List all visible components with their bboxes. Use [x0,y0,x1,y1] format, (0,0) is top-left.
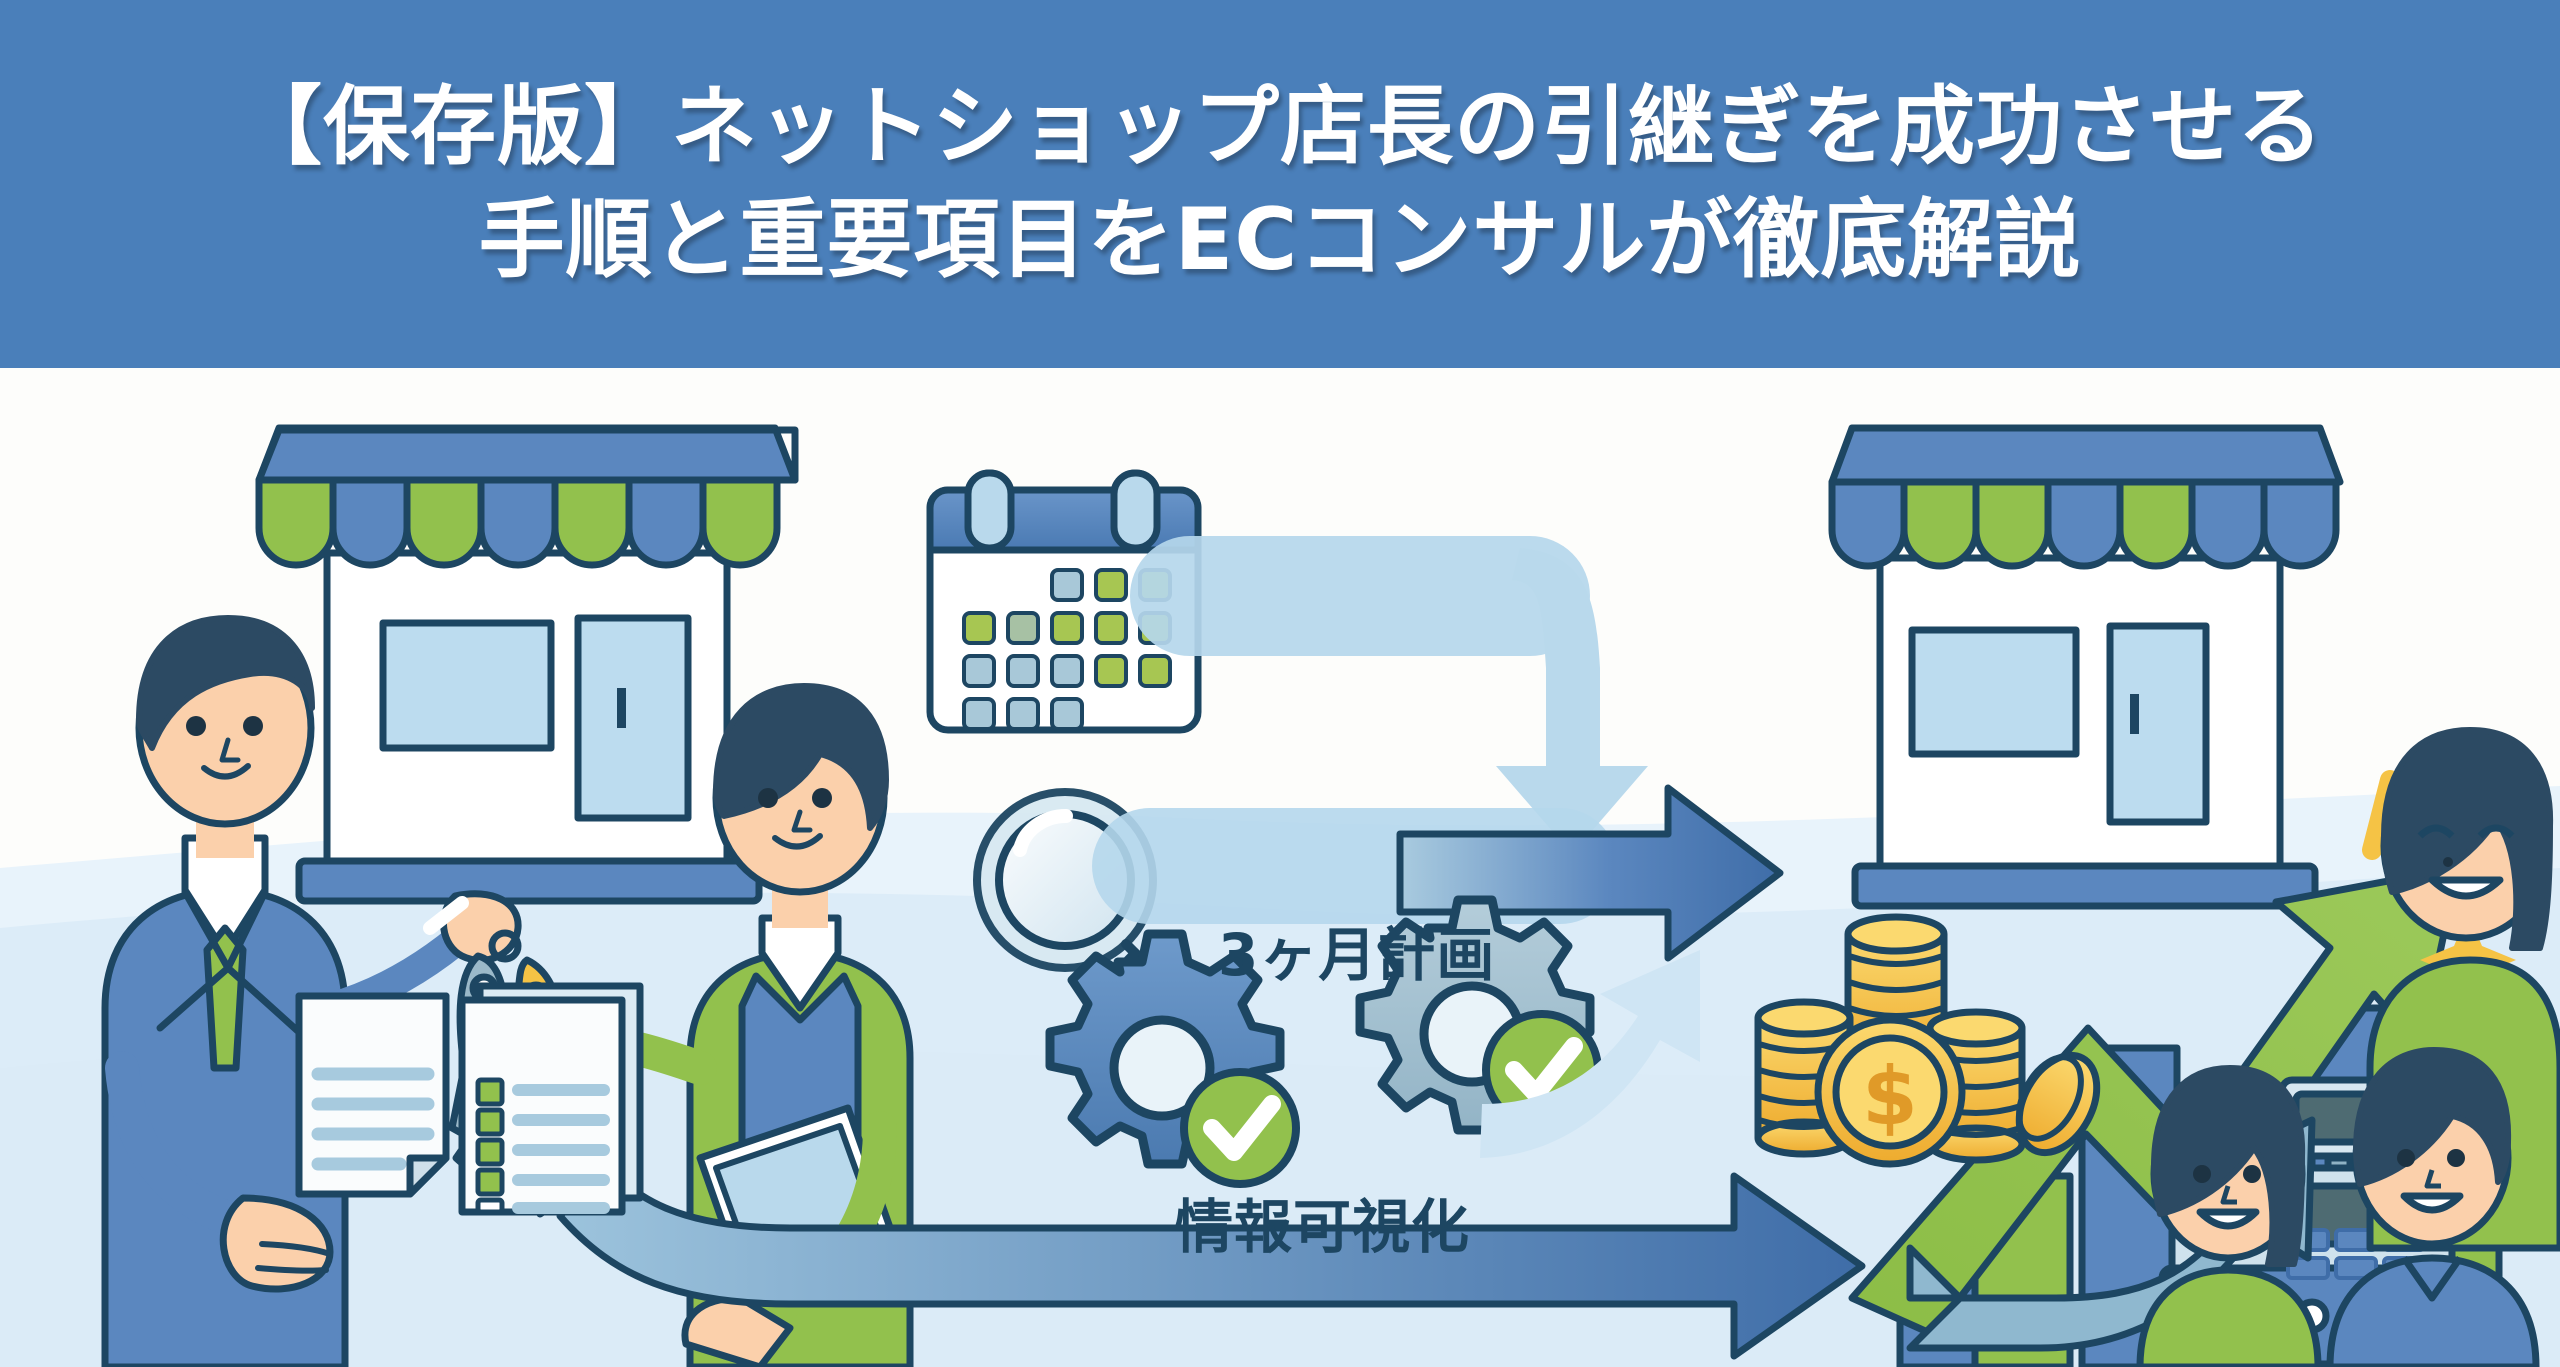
manual-document-icon [299,996,446,1194]
plan-badge-label: 3ヶ月計画 [1218,908,1495,992]
visual-badge-label: 情報可視化 [1175,1180,1470,1264]
title-banner: 【保存版】ネットショップ店長の引継ぎを成功させる 手順と重要項目をECコンサルが… [0,0,2560,368]
page-title-line-1: 【保存版】ネットショップ店長の引継ぎを成功させる [236,74,2324,182]
illustration-area: $ [0,368,2560,1367]
page-title-line-2: 手順と重要項目をECコンサルが徹底解説 [479,187,2082,295]
idlist-document-icon [462,986,640,1212]
thumbnail-canvas: 【保存版】ネットショップ店長の引継ぎを成功させる 手順と重要項目をECコンサルが… [0,0,2560,1367]
